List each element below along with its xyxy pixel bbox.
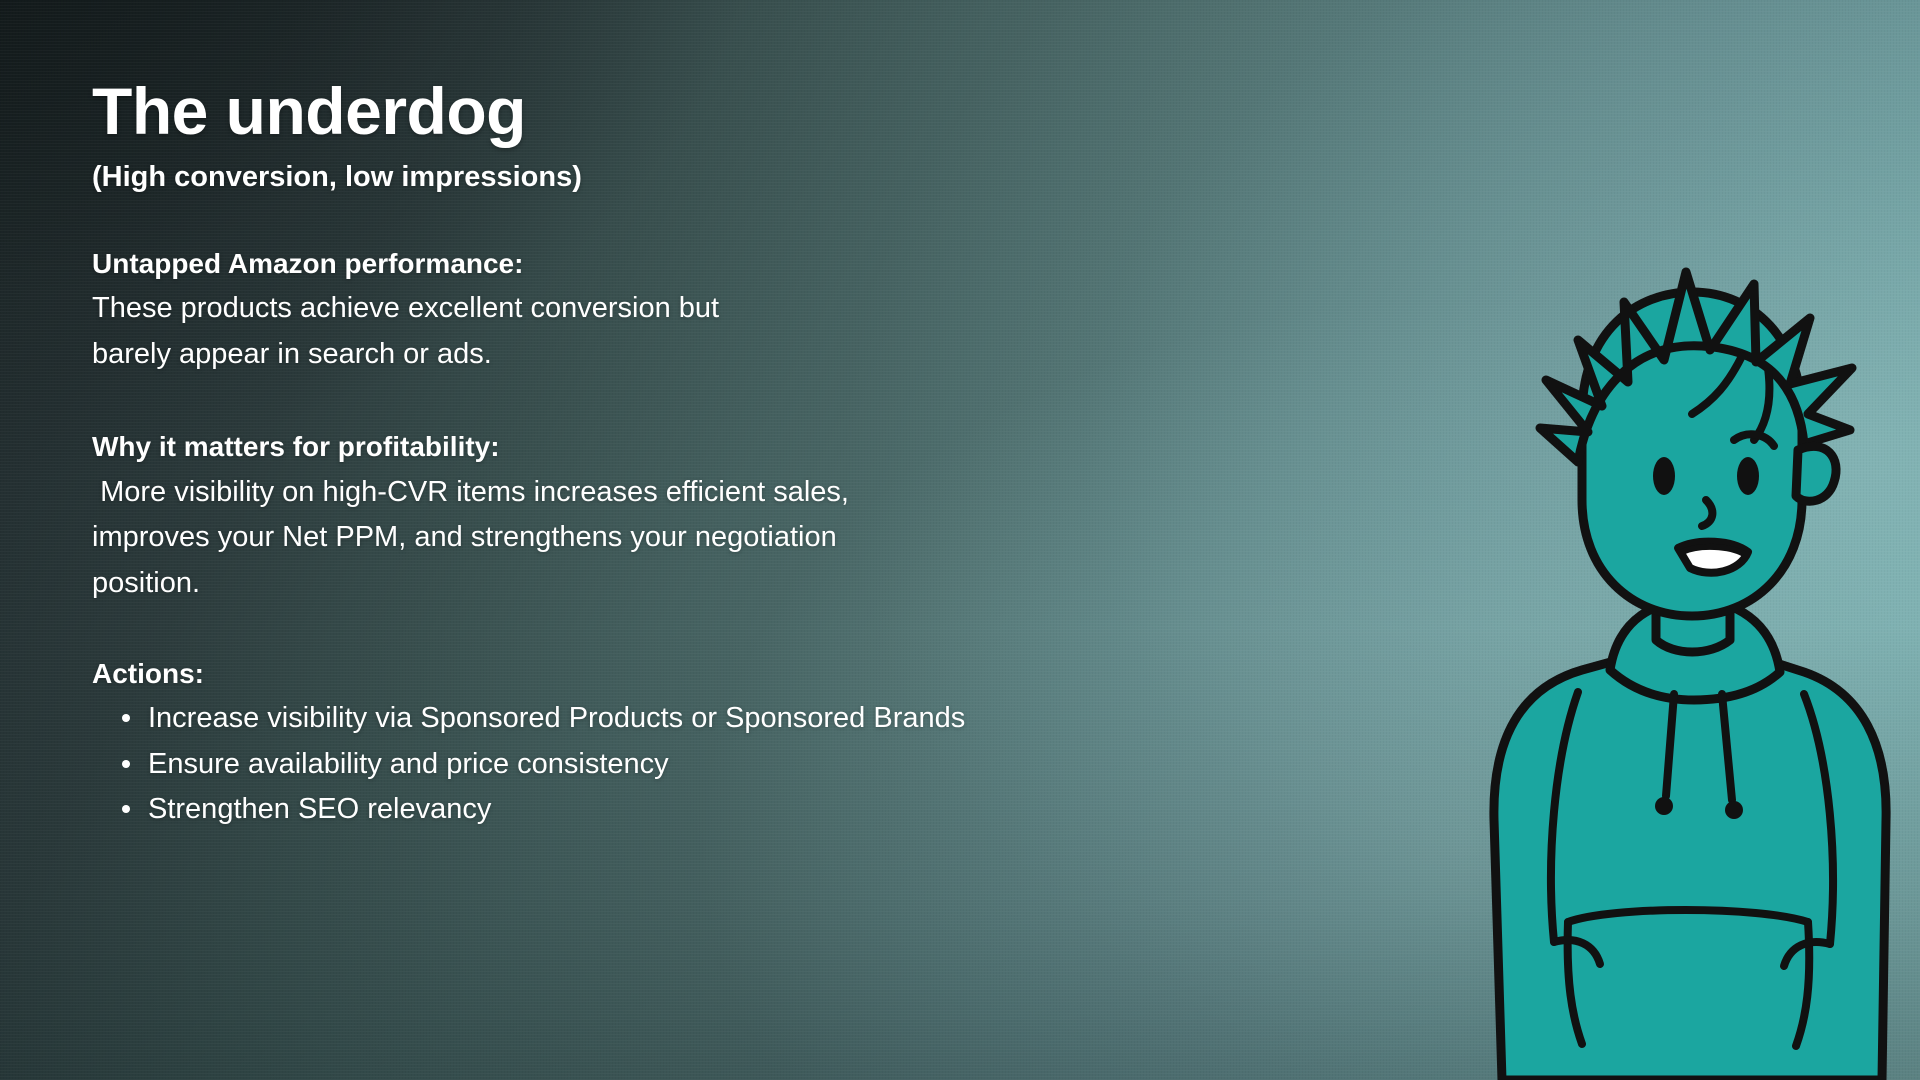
section-heading-actions: Actions: — [92, 658, 1212, 690]
section-heading-why-it-matters: Why it matters for profitability: — [92, 429, 1212, 465]
list-item-label: Increase visibility via Sponsored Produc… — [148, 702, 965, 734]
list-item-label: Ensure availability and price consistenc… — [148, 748, 669, 780]
section-why-it-matters: Why it matters for profitability: More v… — [92, 429, 1212, 606]
section-actions: Actions: Increase visibility via Sponsor… — [92, 658, 1212, 833]
section-body-why-it-matters: More visibility on high-CVR items increa… — [92, 470, 1212, 607]
section-untapped-performance: Untapped Amazon performance: These produ… — [92, 246, 1212, 377]
actions-list: Increase visibility via Sponsored Produc… — [92, 696, 1212, 833]
section-heading-untapped-performance: Untapped Amazon performance: — [92, 246, 1212, 282]
list-item: Increase visibility via Sponsored Produc… — [148, 696, 1212, 742]
section-body-untapped-performance: These products achieve excellent convers… — [92, 286, 1212, 377]
list-item-label: Strengthen SEO relevancy — [148, 793, 491, 825]
slide-subtitle: (High conversion, low impressions) — [92, 162, 1212, 194]
list-item: Strengthen SEO relevancy — [148, 787, 1212, 833]
bullet-dot-icon — [122, 760, 130, 768]
list-item: Ensure availability and price consistenc… — [148, 742, 1212, 788]
bullet-dot-icon — [122, 714, 130, 722]
slide-canvas: The underdog (High conversion, low impre… — [0, 0, 1920, 1080]
text-content-column: The underdog (High conversion, low impre… — [92, 78, 1212, 833]
bullet-dot-icon — [122, 805, 130, 813]
slide-title: The underdog — [92, 78, 1212, 144]
